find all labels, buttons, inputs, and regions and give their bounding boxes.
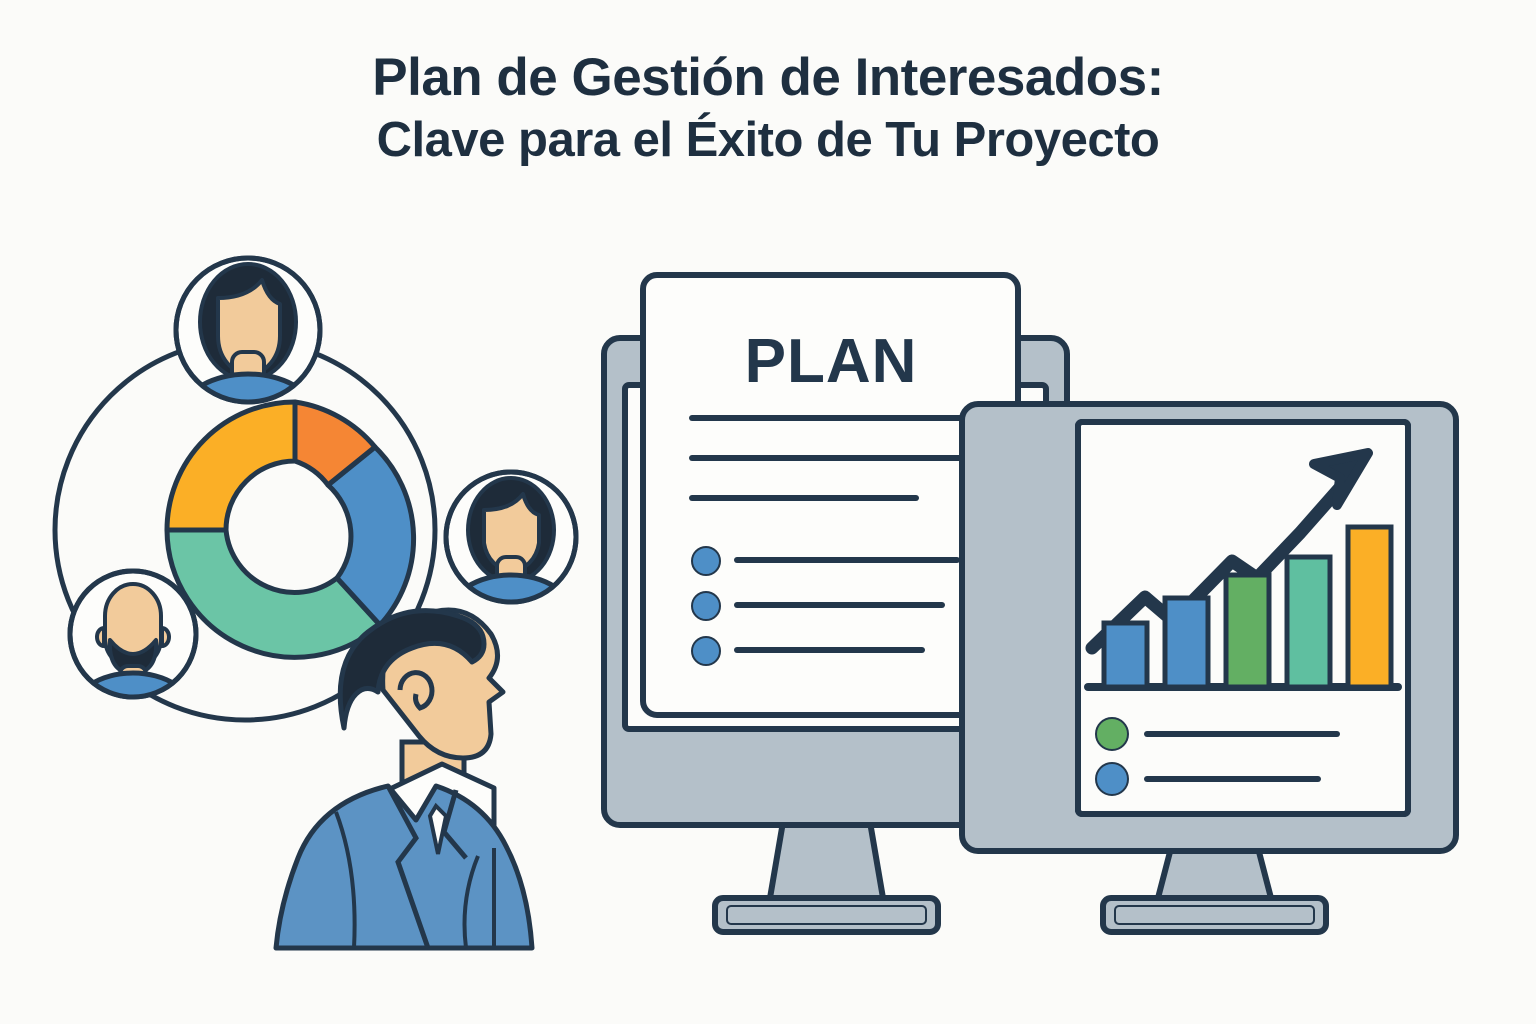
avatar-woman-top [176,258,320,420]
bar-3 [1226,575,1269,687]
plan-document-heading: PLAN [745,327,918,396]
bar-1 [1104,623,1147,687]
avatar-ear-right [162,628,169,646]
avatar-ear-left [97,628,104,646]
monitor-dashboard [962,404,1456,932]
bar-2 [1165,598,1208,687]
poster-canvas: Plan de Gestión de Interesados: Clave pa… [0,0,1536,1024]
avatar-man-bearded [70,571,196,714]
monitor-dashboard-base-inner [1115,906,1314,924]
monitor-plan-neck [770,822,883,898]
monitor-dashboard-neck [1158,848,1271,898]
donut-slice-amber [167,402,295,530]
avatar-woman-right [446,472,576,617]
legend-dot-green [1096,718,1128,750]
stakeholder-network [55,258,576,948]
bar-4 [1287,557,1330,687]
legend-dot-blue [1096,763,1128,795]
plan-bullet-dot [692,547,720,575]
monitor-plan-base-inner [727,906,926,924]
illustration-artboard: PLAN [0,0,1536,1024]
plan-bullet-dot [692,637,720,665]
plan-bullet-dot [692,592,720,620]
stakeholder-donut-chart [167,402,414,657]
bar-5 [1348,527,1391,687]
presenter-figure [276,610,532,948]
